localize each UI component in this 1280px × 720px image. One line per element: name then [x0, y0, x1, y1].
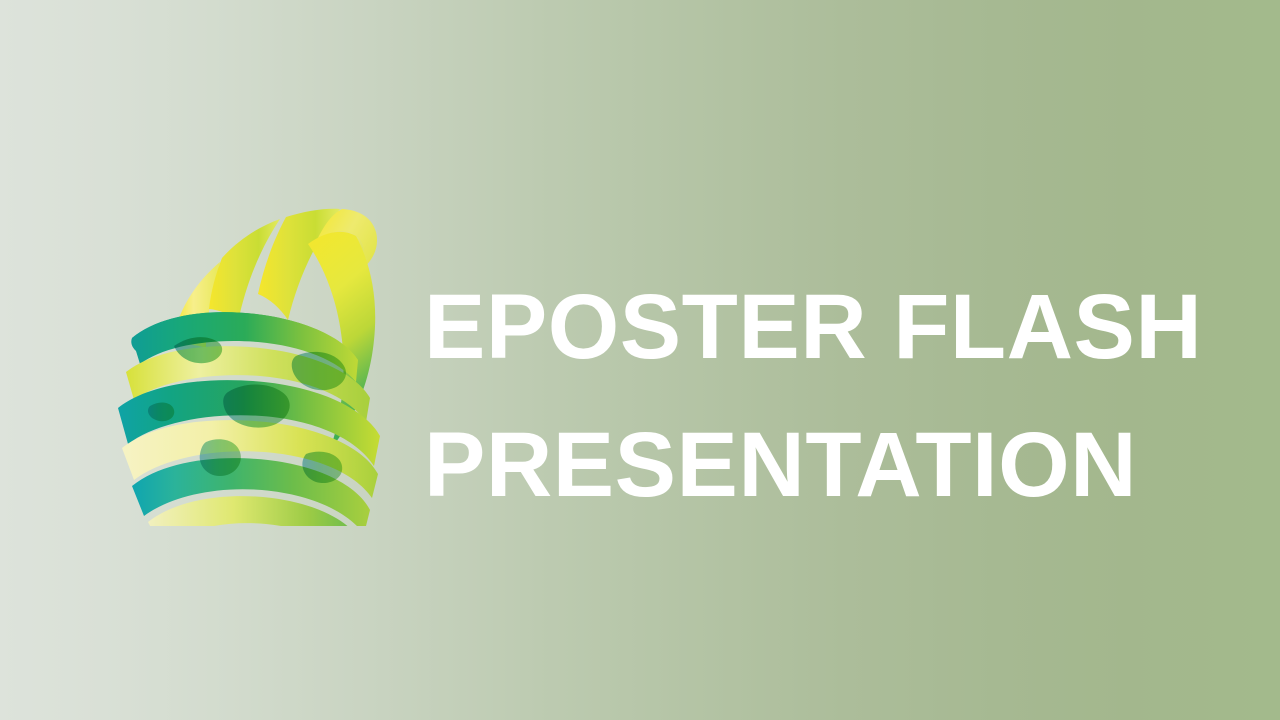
globe-bands [118, 209, 380, 526]
title-slide: EPOSTER FLASH PRESENTATION [0, 0, 1280, 720]
globe-ribbon-logo [110, 196, 400, 526]
title-line-1: EPOSTER FLASH [424, 258, 1214, 396]
slide-title: EPOSTER FLASH PRESENTATION [424, 258, 1214, 534]
title-line-2: PRESENTATION [424, 396, 1214, 534]
